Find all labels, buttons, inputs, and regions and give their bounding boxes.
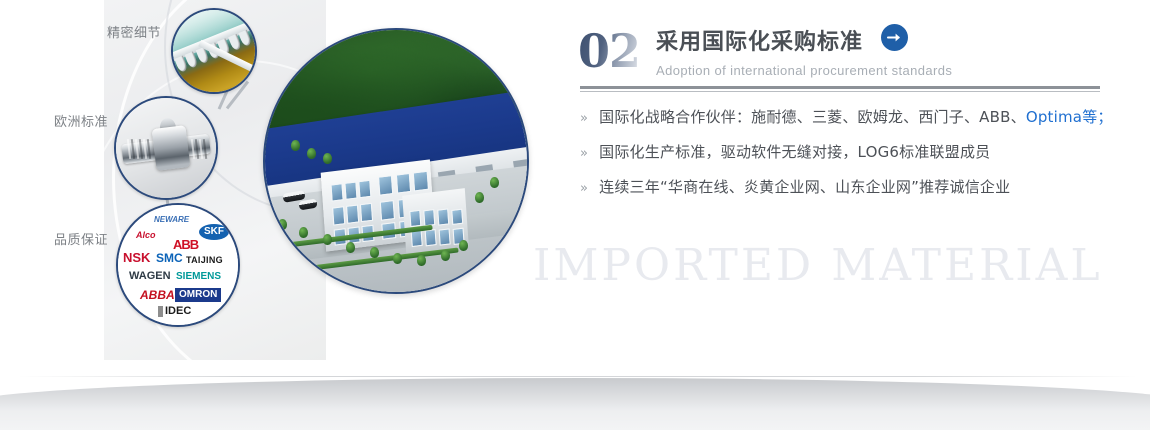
brand-logo-abba: ABBA xyxy=(140,289,175,301)
chevron-right-icon: » xyxy=(580,181,588,196)
brand-logo-smc: SMC xyxy=(156,252,183,264)
factory-building-photo xyxy=(263,28,529,294)
brand-logo-wagen: WAGEN xyxy=(129,271,171,282)
arrow-right-circle-icon[interactable] xyxy=(881,24,908,51)
brand-logo-abb: ABB xyxy=(173,238,198,251)
brand-logo-siemens: SIEMENS xyxy=(176,272,221,282)
brand-logos-circle: NEWARE SKF Alco ABB NSK SMC TAIJING WAGE… xyxy=(116,203,240,327)
section-header: 02 采用国际化采购标准 Adoption of international p… xyxy=(578,24,1118,88)
brand-logo-alco: Alco xyxy=(136,231,156,240)
chevron-right-icon: » xyxy=(580,111,588,126)
chevron-right-icon: » xyxy=(580,146,588,161)
page-subtitle: Adoption of international procurement st… xyxy=(656,63,952,78)
list-item-text: 国际化生产标准，驱动软件无缝对接，LOG6标准联盟成员 xyxy=(599,141,990,162)
bottom-shadow-band xyxy=(0,376,1150,430)
list-item-highlight: Optima等； xyxy=(1026,108,1113,126)
list-item: » 国际化生产标准，驱动软件无缝对接，LOG6标准联盟成员 xyxy=(580,141,1110,162)
label-european-standard: 欧洲标准 xyxy=(54,111,108,130)
list-item-text: 连续三年“华商在线、炎黄企业网、山东企业网”推荐诚信企业 xyxy=(599,176,1010,197)
list-item-text-main: 国际化战略合作伙伴：施耐德、三菱、欧姆龙、西门子、ABB、 xyxy=(599,108,1026,126)
list-item-text-main: 连续三年“华商在线、炎黄企业网、山东企业网”推荐诚信企业 xyxy=(599,178,1010,196)
brand-logo-idec: IDEC xyxy=(158,306,191,317)
label-quality-assurance: 品质保证 xyxy=(54,229,108,248)
header-divider xyxy=(580,86,1100,92)
ball-screw-photo xyxy=(114,96,218,200)
list-item-text-main: 国际化生产标准，驱动软件无缝对接，LOG6标准联盟成员 xyxy=(599,143,990,161)
brand-logo-skf: SKF xyxy=(199,224,229,240)
gear-detail-photo xyxy=(171,8,257,94)
label-precision-detail: 精密细节 xyxy=(107,22,161,41)
list-item-text: 国际化战略合作伙伴：施耐德、三菱、欧姆龙、西门子、ABB、Optima等； xyxy=(599,106,1112,127)
brand-logo-taijing: TAIJING xyxy=(186,256,223,265)
brand-logo-neware: NEWARE xyxy=(154,216,189,224)
feature-list: » 国际化战略合作伙伴：施耐德、三菱、欧姆龙、西门子、ABB、Optima等； … xyxy=(580,106,1110,211)
list-item: » 连续三年“华商在线、炎黄企业网、山东企业网”推荐诚信企业 xyxy=(580,176,1110,197)
brand-logo-omron: OMRON xyxy=(175,288,221,302)
list-item: » 国际化战略合作伙伴：施耐德、三菱、欧姆龙、西门子、ABB、Optima等； xyxy=(580,106,1110,127)
section-number: 02 xyxy=(578,28,640,74)
watermark-text: IMPORTED MATERIAL xyxy=(533,240,1103,291)
content-panel: 02 采用国际化采购标准 Adoption of international p… xyxy=(578,24,1118,88)
page-title: 采用国际化采购标准 xyxy=(656,24,863,56)
brand-logo-nsk: NSK xyxy=(123,251,150,264)
